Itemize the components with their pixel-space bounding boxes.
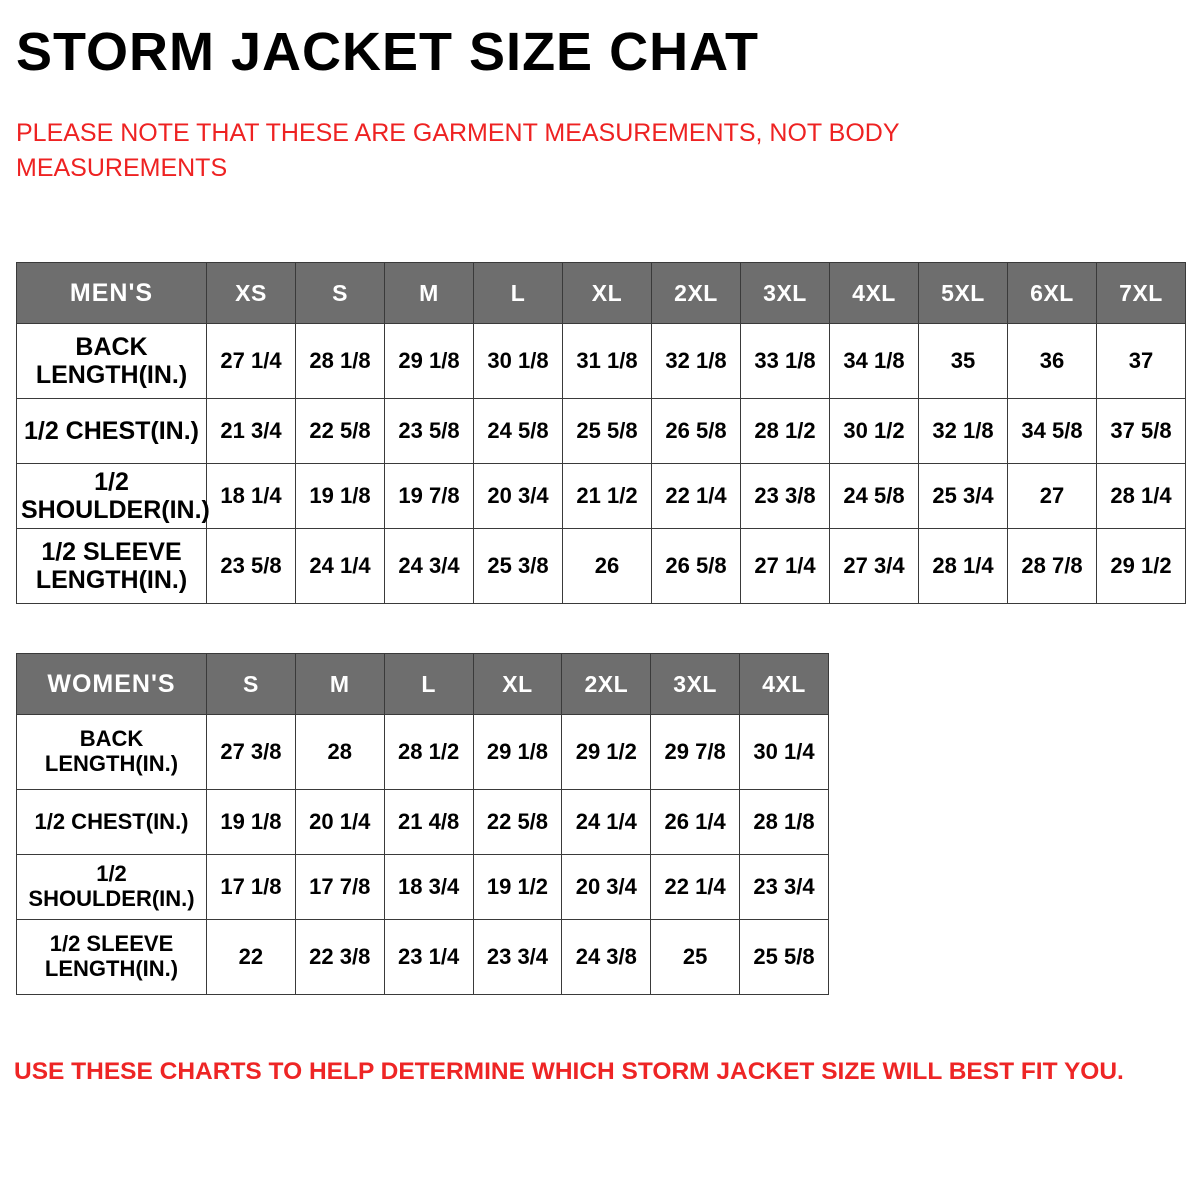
womens-half-chest-m: 20 1/4 (295, 790, 384, 855)
mens-row-label-half-chest: 1/2 CHEST(IN.) (17, 399, 207, 464)
mens-back-length-m: 29 1/8 (385, 324, 474, 399)
mens-half-sleeve-2xl: 26 5/8 (652, 529, 741, 604)
mens-col-5xl: 5XL (919, 263, 1008, 324)
mens-back-length-s: 28 1/8 (296, 324, 385, 399)
table-row: 1/2 SLEEVE LENGTH(IN.) 23 5/8 24 1/4 24 … (17, 529, 1186, 604)
garment-measurement-note: PLEASE NOTE THAT THESE ARE GARMENT MEASU… (16, 116, 976, 185)
mens-half-sleeve-s: 24 1/4 (296, 529, 385, 604)
mens-half-sleeve-xl: 26 (563, 529, 652, 604)
size-chart-page: STORM JACKET SIZE CHAT PLEASE NOTE THAT … (0, 0, 1200, 1200)
womens-back-length-4xl: 30 1/4 (740, 715, 829, 790)
mens-half-shoulder-2xl: 22 1/4 (652, 464, 741, 529)
womens-col-s: S (207, 654, 296, 715)
womens-half-sleeve-2xl: 24 3/8 (562, 920, 651, 995)
mens-half-chest-s: 22 5/8 (296, 399, 385, 464)
mens-col-7xl: 7XL (1097, 263, 1186, 324)
womens-back-length-s: 27 3/8 (207, 715, 296, 790)
womens-half-chest-xl: 22 5/8 (473, 790, 562, 855)
mens-row-label-half-shoulder: 1/2 SHOULDER(IN.) (17, 464, 207, 529)
womens-row-label-half-shoulder: 1/2 SHOULDER(IN.) (17, 855, 207, 920)
mens-col-6xl: 6XL (1008, 263, 1097, 324)
mens-half-shoulder-3xl: 23 3/8 (741, 464, 830, 529)
mens-half-shoulder-4xl: 24 5/8 (830, 464, 919, 529)
womens-half-shoulder-s: 17 1/8 (207, 855, 296, 920)
womens-row-label-half-chest: 1/2 CHEST(IN.) (17, 790, 207, 855)
table-row: 1/2 CHEST(IN.) 19 1/8 20 1/4 21 4/8 22 5… (17, 790, 829, 855)
mens-back-length-5xl: 35 (919, 324, 1008, 399)
table-row: 1/2 SHOULDER(IN.) 17 1/8 17 7/8 18 3/4 1… (17, 855, 829, 920)
mens-half-sleeve-5xl: 28 1/4 (919, 529, 1008, 604)
womens-half-sleeve-m: 22 3/8 (295, 920, 384, 995)
womens-half-shoulder-m: 17 7/8 (295, 855, 384, 920)
table-row: 1/2 SLEEVE LENGTH(IN.) 22 22 3/8 23 1/4 … (17, 920, 829, 995)
mens-corner-label: MEN'S (17, 263, 207, 324)
mens-back-length-7xl: 37 (1097, 324, 1186, 399)
mens-half-sleeve-4xl: 27 3/4 (830, 529, 919, 604)
mens-back-length-l: 30 1/8 (474, 324, 563, 399)
womens-col-m: M (295, 654, 384, 715)
mens-row-label-half-sleeve-length: 1/2 SLEEVE LENGTH(IN.) (17, 529, 207, 604)
mens-half-sleeve-m: 24 3/4 (385, 529, 474, 604)
womens-col-3xl: 3XL (651, 654, 740, 715)
womens-half-sleeve-4xl: 25 5/8 (740, 920, 829, 995)
mens-half-sleeve-xs: 23 5/8 (207, 529, 296, 604)
womens-back-length-l: 28 1/2 (384, 715, 473, 790)
womens-half-sleeve-3xl: 25 (651, 920, 740, 995)
mens-half-chest-xs: 21 3/4 (207, 399, 296, 464)
mens-col-xl: XL (563, 263, 652, 324)
mens-half-chest-2xl: 26 5/8 (652, 399, 741, 464)
mens-half-chest-7xl: 37 5/8 (1097, 399, 1186, 464)
mens-half-sleeve-l: 25 3/8 (474, 529, 563, 604)
mens-half-shoulder-xl: 21 1/2 (563, 464, 652, 529)
mens-back-length-xl: 31 1/8 (563, 324, 652, 399)
mens-col-m: M (385, 263, 474, 324)
mens-col-l: L (474, 263, 563, 324)
mens-table-body: BACK LENGTH(IN.) 27 1/4 28 1/8 29 1/8 30… (17, 324, 1186, 604)
womens-half-chest-4xl: 28 1/8 (740, 790, 829, 855)
womens-half-chest-s: 19 1/8 (207, 790, 296, 855)
mens-half-chest-3xl: 28 1/2 (741, 399, 830, 464)
mens-half-chest-6xl: 34 5/8 (1008, 399, 1097, 464)
table-row: 1/2 SHOULDER(IN.) 18 1/4 19 1/8 19 7/8 2… (17, 464, 1186, 529)
womens-half-shoulder-l: 18 3/4 (384, 855, 473, 920)
mens-half-chest-l: 24 5/8 (474, 399, 563, 464)
mens-back-length-4xl: 34 1/8 (830, 324, 919, 399)
mens-half-sleeve-6xl: 28 7/8 (1008, 529, 1097, 604)
womens-col-xl: XL (473, 654, 562, 715)
mens-half-chest-4xl: 30 1/2 (830, 399, 919, 464)
mens-col-2xl: 2XL (652, 263, 741, 324)
page-title: STORM JACKET SIZE CHAT (16, 24, 759, 81)
mens-half-chest-m: 23 5/8 (385, 399, 474, 464)
womens-corner-label: WOMEN'S (17, 654, 207, 715)
womens-back-length-3xl: 29 7/8 (651, 715, 740, 790)
womens-col-2xl: 2XL (562, 654, 651, 715)
mens-half-shoulder-xs: 18 1/4 (207, 464, 296, 529)
mens-half-sleeve-3xl: 27 1/4 (741, 529, 830, 604)
table-row: 1/2 CHEST(IN.) 21 3/4 22 5/8 23 5/8 24 5… (17, 399, 1186, 464)
mens-back-length-2xl: 32 1/8 (652, 324, 741, 399)
mens-back-length-3xl: 33 1/8 (741, 324, 830, 399)
mens-half-chest-xl: 25 5/8 (563, 399, 652, 464)
mens-half-shoulder-s: 19 1/8 (296, 464, 385, 529)
womens-half-shoulder-2xl: 20 3/4 (562, 855, 651, 920)
womens-back-length-2xl: 29 1/2 (562, 715, 651, 790)
mens-half-shoulder-m: 19 7/8 (385, 464, 474, 529)
mens-back-length-xs: 27 1/4 (207, 324, 296, 399)
womens-back-length-m: 28 (295, 715, 384, 790)
womens-header-row: WOMEN'S S M L XL 2XL 3XL 4XL (17, 654, 829, 715)
womens-table-head: WOMEN'S S M L XL 2XL 3XL 4XL (17, 654, 829, 715)
womens-col-4xl: 4XL (740, 654, 829, 715)
womens-half-sleeve-l: 23 1/4 (384, 920, 473, 995)
mens-col-3xl: 3XL (741, 263, 830, 324)
womens-row-label-half-sleeve-length: 1/2 SLEEVE LENGTH(IN.) (17, 920, 207, 995)
mens-half-shoulder-l: 20 3/4 (474, 464, 563, 529)
mens-row-label-back-length: BACK LENGTH(IN.) (17, 324, 207, 399)
size-help-note: USE THESE CHARTS TO HELP DETERMINE WHICH… (14, 1058, 1174, 1086)
mens-half-chest-5xl: 32 1/8 (919, 399, 1008, 464)
womens-half-sleeve-xl: 23 3/4 (473, 920, 562, 995)
womens-size-table: WOMEN'S S M L XL 2XL 3XL 4XL BACK LENGTH… (16, 653, 829, 995)
womens-half-shoulder-3xl: 22 1/4 (651, 855, 740, 920)
mens-header-row: MEN'S XS S M L XL 2XL 3XL 4XL 5XL 6XL 7X… (17, 263, 1186, 324)
womens-back-length-xl: 29 1/8 (473, 715, 562, 790)
table-row: BACK LENGTH(IN.) 27 3/8 28 28 1/2 29 1/8… (17, 715, 829, 790)
womens-table-body: BACK LENGTH(IN.) 27 3/8 28 28 1/2 29 1/8… (17, 715, 829, 995)
mens-size-table: MEN'S XS S M L XL 2XL 3XL 4XL 5XL 6XL 7X… (16, 262, 1186, 604)
womens-half-sleeve-s: 22 (207, 920, 296, 995)
mens-half-shoulder-5xl: 25 3/4 (919, 464, 1008, 529)
mens-col-s: S (296, 263, 385, 324)
womens-half-chest-2xl: 24 1/4 (562, 790, 651, 855)
mens-table-head: MEN'S XS S M L XL 2XL 3XL 4XL 5XL 6XL 7X… (17, 263, 1186, 324)
womens-half-chest-l: 21 4/8 (384, 790, 473, 855)
womens-half-chest-3xl: 26 1/4 (651, 790, 740, 855)
mens-col-4xl: 4XL (830, 263, 919, 324)
womens-col-l: L (384, 654, 473, 715)
table-row: BACK LENGTH(IN.) 27 1/4 28 1/8 29 1/8 30… (17, 324, 1186, 399)
womens-row-label-back-length: BACK LENGTH(IN.) (17, 715, 207, 790)
mens-back-length-6xl: 36 (1008, 324, 1097, 399)
mens-half-shoulder-7xl: 28 1/4 (1097, 464, 1186, 529)
mens-half-sleeve-7xl: 29 1/2 (1097, 529, 1186, 604)
womens-half-shoulder-xl: 19 1/2 (473, 855, 562, 920)
mens-col-xs: XS (207, 263, 296, 324)
mens-half-shoulder-6xl: 27 (1008, 464, 1097, 529)
womens-half-shoulder-4xl: 23 3/4 (740, 855, 829, 920)
